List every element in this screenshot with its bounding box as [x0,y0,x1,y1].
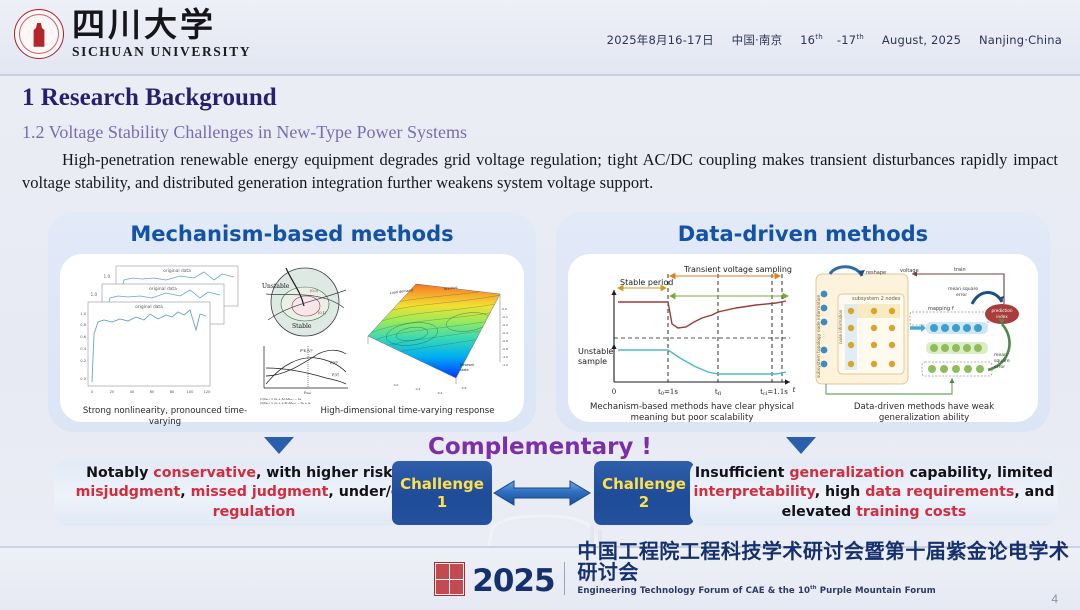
svg-text:0.0: 0.0 [80,377,86,381]
svg-text:Pmax: Pmax [304,391,312,395]
svg-text:Network: Network [460,363,474,367]
svg-text:0.0: 0.0 [502,307,507,311]
svg-text:Unstable: Unstable [578,347,613,356]
svg-text:P,|V|²: P,|V|² [330,361,339,365]
svg-text:1.0: 1.0 [104,274,111,279]
svg-text:tcl=1.1s: tcl=1.1s [760,388,788,397]
svg-text:0.4: 0.4 [438,391,443,395]
complementary-double-arrow-icon [492,478,592,508]
challenge-2-badge[interactable]: Challenge 2 [594,461,694,525]
cae-stamp-icon [434,562,465,596]
svg-text:sample: sample [578,357,607,366]
forum-name-cn: 中国工程院工程科技学术研讨会暨第十届紫金论电学术研讨会 [577,541,1080,583]
svg-text:0: 0 [612,388,616,396]
svg-text:P*E,|V|²: P*E,|V|² [300,349,314,353]
svg-text:mean square: mean square [948,286,978,292]
panel-mechanism-based: Mechanism-based methods original data 1.… [48,212,536,432]
svg-text:60: 60 [150,390,155,394]
svg-text:mapping f: mapping f [928,306,955,312]
panel-right-title: Data-driven methods [556,222,1050,246]
forum-year: 2025 [472,567,554,596]
panel-left-content: original data 1.0 original data 1.0 orig… [60,254,524,422]
svg-text:t0=1s: t0=1s [658,388,678,397]
event-date-en: 16th-17th August, 2025 [800,33,961,47]
svg-text:20: 20 [110,390,115,394]
svg-text:⋮: ⋮ [822,332,827,338]
university-name-en: SICHUAN UNIVERSITY [72,44,251,60]
svg-text:-0.6: -0.6 [502,339,508,343]
svg-text:error: error [956,292,967,298]
panel-left-title: Mechanism-based methods [48,222,536,246]
svg-text:Stable: Stable [292,323,312,330]
caption-right-2: Data-driven methods have weak generaliza… [824,402,1024,424]
svg-text:error: error [994,364,1005,370]
challenge-1-badge[interactable]: Challenge 1 [392,461,492,525]
svg-text:0.6: 0.6 [462,386,467,390]
svg-text:original data: original data [163,268,191,274]
svg-text:0: 0 [91,390,94,394]
challenge2-text: Insufficient generalization capability, … [690,464,1058,523]
challenge-2-number: 2 [639,493,649,511]
body-paragraph: High-penetration renewable energy equipm… [22,148,1058,195]
svg-text:0.6: 0.6 [80,335,86,339]
svg-text:0.8: 0.8 [80,323,86,327]
figure-transient-voltage-sampling: Stable period Transient voltage sampling… [576,258,806,403]
challenge-1-number: 1 [437,493,447,511]
slide-header: 四川大学 SICHUAN UNIVERSITY 2025年8月16-17日 中国… [0,0,1080,76]
event-location-en: Nanjing·China [979,33,1062,47]
university-logo: 四川大学 SICHUAN UNIVERSITY [14,8,251,60]
svg-text:-1.0: -1.0 [502,355,508,359]
svg-text:index: index [996,314,1008,319]
svg-text:t: t [793,386,796,394]
svg-text:0.0: 0.0 [394,383,399,387]
event-date-cn: 2025年8月16-17日 [607,33,714,47]
svg-text:0.2: 0.2 [80,359,86,363]
caption-left-2: High-dimensional time-varying response [300,406,515,417]
event-location-cn: 中国·南京 [732,33,783,47]
footer-divider [564,562,566,595]
forum-name-en: Engineering Technology Forum of CAE & th… [577,585,1080,596]
challenge2-description: Insufficient generalization capability, … [690,461,1058,525]
figure-3d-surface-response: Load demand reactive Networkstate 0.0-0.… [360,258,512,400]
figure-data-driven-model: subsystem topology node information node… [812,260,1028,400]
svg-text:1.0: 1.0 [80,312,86,316]
svg-text:square: square [994,358,1010,364]
forum-logo: 2025 中国工程院工程科技学术研讨会暨第十届紫金论电学术研讨会 Enginee… [434,541,1080,596]
svg-text:80: 80 [170,390,175,394]
svg-text:tfl: tfl [715,388,722,397]
challenge-1-label: Challenge [400,475,484,493]
svg-text:state: state [460,368,469,372]
caption-right-1: Mechanism-based methods have clear physi… [582,402,802,424]
svg-text:-0.4: -0.4 [502,331,508,335]
svg-text:Stable period: Stable period [620,278,673,287]
svg-text:original data: original data [135,304,163,310]
complementary-label: Complementary ! [0,434,1080,460]
sichuan-university-seal-icon [14,9,64,59]
panel-data-driven: Data-driven methods [556,212,1050,432]
svg-text:original data: original data [149,286,177,292]
svg-text:-0.2: -0.2 [502,323,508,327]
svg-text:-1.2: -1.2 [502,363,508,367]
svg-text:mean: mean [994,353,1007,358]
svg-text:40: 40 [130,390,135,394]
svg-text:P,|V|: P,|V| [332,373,339,377]
svg-text:(2)δk+1 = λk + ν·Δt·Δδk+1 − bk: (2)δk+1 = λk + ν·Δt·Δδk+1 − bk + ω [260,401,311,405]
challenge-2-label: Challenge [602,475,686,493]
svg-text:prediction: prediction [991,308,1012,313]
svg-text:120: 120 [204,390,212,394]
svg-text:(0,1): (0,1) [318,311,327,315]
svg-text:100: 100 [187,390,195,394]
slide: 四川大学 SICHUAN UNIVERSITY 2025年8月16-17日 中国… [0,0,1080,610]
svg-text:train: train [954,267,966,273]
slide-footer: 2025 中国工程院工程科技学术研讨会暨第十届紫金论电学术研讨会 Enginee… [0,546,1080,610]
header-event-meta: 2025年8月16-17日 中国·南京 16th-17th August, 20… [607,32,1062,48]
svg-text:(0,0): (0,0) [310,289,319,293]
figure-original-data-stack: original data 1.0 original data 1.0 orig… [76,262,246,402]
svg-text:Unstable: Unstable [262,283,290,290]
svg-text:-0.1: -0.1 [502,315,508,319]
page-subtitle: 1.2 Voltage Stability Challenges in New-… [22,122,467,143]
figure-stability-region: Unstable Stable (0,0)(0,1) P*E,|V|²P,|V|… [256,260,354,405]
caption-left-1: Strong nonlinearity, pronounced time-var… [70,406,260,428]
panel-right-content: Stable period Transient voltage sampling… [568,254,1038,422]
page-title: 1 Research Background [22,84,277,112]
svg-text:node information: node information [838,309,843,344]
svg-text:Transient voltage sampling: Transient voltage sampling [683,265,792,274]
svg-text:subsystem 2 nodes: subsystem 2 nodes [852,296,901,302]
university-name-cn: 四川大学 [72,8,251,43]
svg-text:0.2: 0.2 [416,387,421,391]
svg-text:-0.8: -0.8 [502,347,508,351]
svg-text:1.0: 1.0 [91,292,98,297]
page-number: 4 [1051,592,1058,606]
svg-text:reshape: reshape [866,270,886,276]
svg-text:0.4: 0.4 [80,347,86,351]
